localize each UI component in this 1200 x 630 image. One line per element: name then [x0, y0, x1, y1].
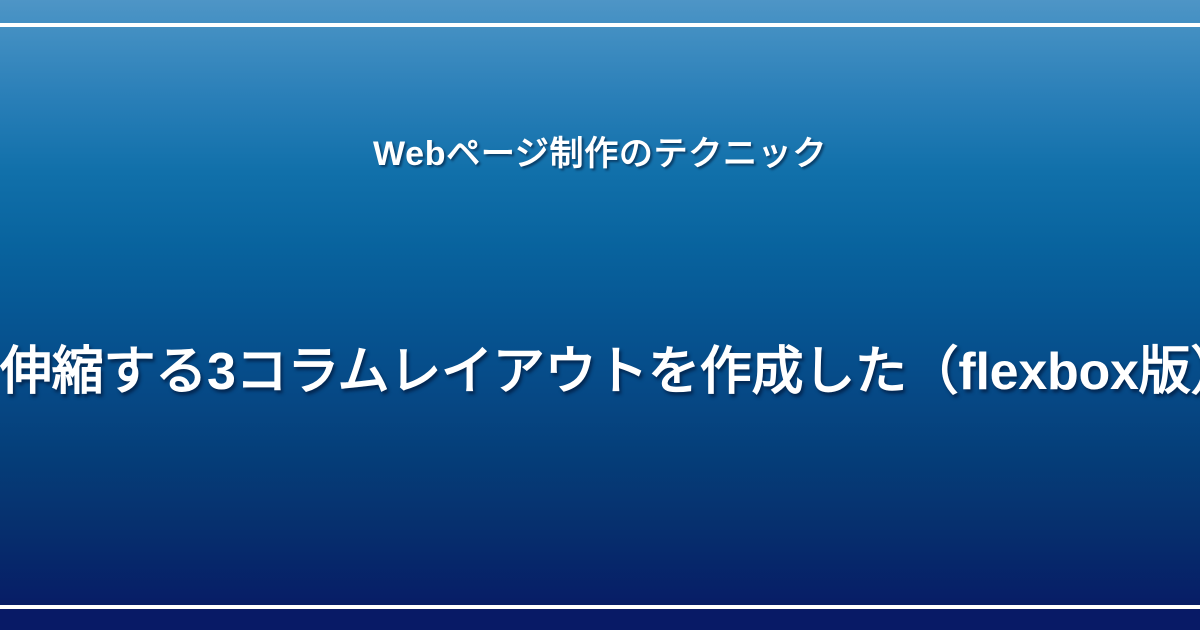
card-title: 伸縮する3コラムレイアウトを作成した（flexbox版）	[0, 339, 1200, 405]
ogp-card: Webページ制作のテクニック 伸縮する3コラムレイアウトを作成した（flexbo…	[0, 0, 1200, 630]
card-subtitle: Webページ制作のテクニック	[0, 132, 1200, 176]
text-layer: Webページ制作のテクニック 伸縮する3コラムレイアウトを作成した（flexbo…	[0, 0, 1200, 630]
